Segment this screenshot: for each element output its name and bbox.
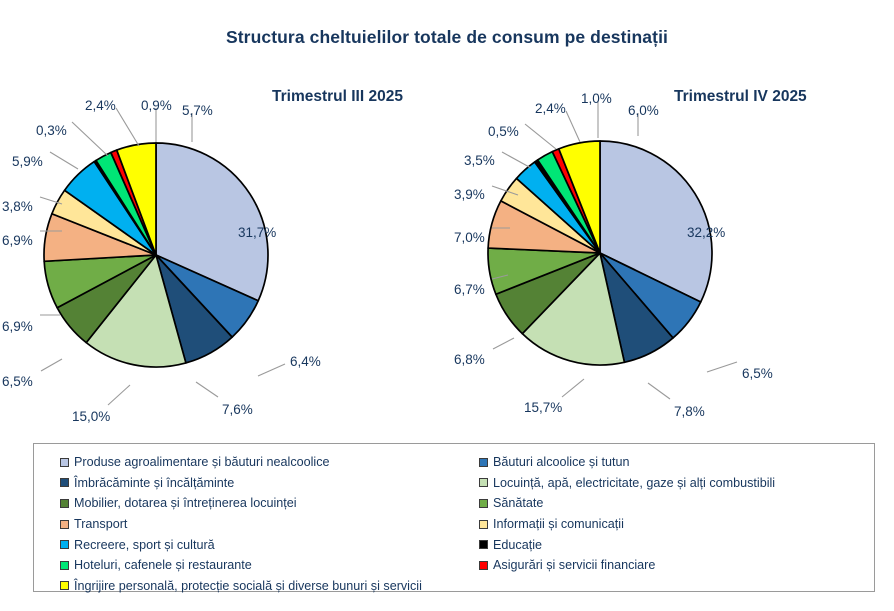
pie-slice-percent-label: 6,9% bbox=[2, 234, 33, 248]
legend-item-label: Îmbrăcăminte și încălțăminte bbox=[74, 476, 234, 490]
legend-item: Hoteluri, cafenele și restaurante bbox=[60, 555, 490, 576]
legend-item: Locuință, apă, electricitate, gaze și al… bbox=[479, 473, 871, 494]
legend-item-label: Produse agroalimentare și băuturi nealco… bbox=[74, 455, 330, 469]
pie-slice-percent-label: 6,5% bbox=[742, 367, 773, 381]
legend-item-label: Recreere, sport și cultură bbox=[74, 538, 215, 552]
pie-slice-percent-label: 6,9% bbox=[2, 320, 33, 334]
legend-color-swatch bbox=[60, 520, 69, 529]
legend-item: Transport bbox=[60, 514, 490, 535]
legend-color-swatch bbox=[60, 458, 69, 467]
pie-slice-percent-label: 0,3% bbox=[36, 124, 67, 138]
legend-item: Sănătate bbox=[479, 493, 871, 514]
pie-svg-q3 bbox=[0, 76, 452, 436]
pie-slice-percent-label: 3,8% bbox=[2, 200, 33, 214]
pie-slice-percent-label: 6,7% bbox=[454, 283, 485, 297]
pie-slice-percent-label: 0,5% bbox=[488, 125, 519, 139]
legend-color-swatch bbox=[60, 499, 69, 508]
legend-item-label: Sănătate bbox=[493, 496, 543, 510]
label-leader-line bbox=[196, 382, 218, 397]
legend-item: Produse agroalimentare și băuturi nealco… bbox=[60, 452, 490, 473]
legend-item-label: Educație bbox=[493, 538, 542, 552]
pie-slice-percent-label: 7,0% bbox=[454, 231, 485, 245]
label-leader-line bbox=[41, 359, 62, 371]
chart-legend: Produse agroalimentare și băuturi nealco… bbox=[33, 443, 875, 592]
pie-slice-percent-label: 2,4% bbox=[535, 102, 566, 116]
legend-item: Asigurări și servicii financiare bbox=[479, 555, 871, 576]
legend-column-right: Băuturi alcoolice și tutunLocuință, apă,… bbox=[479, 452, 871, 576]
pie-slice-percent-label: 6,8% bbox=[454, 353, 485, 367]
legend-item-label: Transport bbox=[74, 517, 127, 531]
pie-slice-percent-label: 3,5% bbox=[464, 154, 495, 168]
legend-color-swatch bbox=[479, 540, 488, 549]
label-leader-line bbox=[108, 385, 130, 405]
legend-color-swatch bbox=[60, 478, 69, 487]
legend-item: Mobilier, dotarea și întreținerea locuin… bbox=[60, 493, 490, 514]
legend-item: Îmbrăcăminte și încălțăminte bbox=[60, 473, 490, 494]
legend-item: Băuturi alcoolice și tutun bbox=[479, 452, 871, 473]
pie-slice-percent-label: 5,7% bbox=[182, 104, 213, 118]
legend-color-swatch bbox=[479, 458, 488, 467]
pie-slice-percent-label: 15,7% bbox=[524, 401, 562, 415]
legend-item: Îngrijire personală, protecție socială ș… bbox=[60, 576, 490, 597]
pie-slice-percent-label: 32,2% bbox=[687, 226, 725, 240]
legend-item: Informații și comunicații bbox=[479, 514, 871, 535]
legend-color-swatch bbox=[479, 520, 488, 529]
label-leader-line bbox=[116, 108, 139, 146]
legend-item-label: Hoteluri, cafenele și restaurante bbox=[74, 558, 252, 572]
pie-chart-panel-q4: Trimestrul IV 2025 32,2%6,5%7,8%15,7%6,8… bbox=[452, 76, 894, 436]
label-leader-line bbox=[566, 111, 580, 142]
legend-item: Educație bbox=[479, 534, 871, 555]
legend-column-left: Produse agroalimentare și băuturi nealco… bbox=[60, 452, 490, 596]
legend-item-label: Mobilier, dotarea și întreținerea locuin… bbox=[74, 496, 297, 510]
legend-item: Recreere, sport și cultură bbox=[60, 534, 490, 555]
label-leader-line bbox=[72, 122, 108, 156]
legend-color-swatch bbox=[479, 478, 488, 487]
legend-item-label: Îngrijire personală, protecție socială ș… bbox=[74, 579, 422, 593]
pie-slice-percent-label: 6,0% bbox=[628, 104, 659, 118]
legend-color-swatch bbox=[60, 561, 69, 570]
legend-item-label: Asigurări și servicii financiare bbox=[493, 558, 655, 572]
pie-slice-percent-label: 6,5% bbox=[2, 375, 33, 389]
label-leader-line bbox=[648, 383, 670, 399]
label-leader-line bbox=[707, 362, 737, 372]
pie-slice-percent-label: 7,8% bbox=[674, 405, 705, 419]
page-title: Structura cheltuielilor totale de consum… bbox=[0, 27, 894, 48]
pie-slice-percent-label: 15,0% bbox=[72, 410, 110, 424]
legend-item-label: Locuință, apă, electricitate, gaze și al… bbox=[493, 476, 775, 490]
pie-slice-percent-label: 7,6% bbox=[222, 403, 253, 417]
pie-chart-panel-q3: Trimestrul III 2025 31,7%6,4%7,6%15,0%6,… bbox=[0, 76, 452, 436]
label-leader-line bbox=[493, 338, 514, 349]
pie-slice-percent-label: 0,9% bbox=[141, 99, 172, 113]
label-leader-line bbox=[50, 152, 78, 169]
label-leader-line bbox=[562, 379, 584, 397]
pie-slice-percent-label: 1,0% bbox=[581, 92, 612, 106]
pie-slice-percent-label: 31,7% bbox=[238, 226, 276, 240]
legend-color-swatch bbox=[60, 540, 69, 549]
pie-slice-percent-label: 5,9% bbox=[12, 155, 43, 169]
label-leader-line bbox=[525, 124, 556, 149]
legend-color-swatch bbox=[60, 581, 69, 590]
label-leader-line bbox=[258, 364, 285, 376]
legend-color-swatch bbox=[479, 499, 488, 508]
legend-item-label: Informații și comunicații bbox=[493, 517, 624, 531]
pie-slice-percent-label: 6,4% bbox=[290, 355, 321, 369]
pie-slice-percent-label: 2,4% bbox=[85, 99, 116, 113]
label-leader-line bbox=[502, 152, 531, 168]
pie-slice-percent-label: 3,9% bbox=[454, 188, 485, 202]
legend-item-label: Băuturi alcoolice și tutun bbox=[493, 455, 630, 469]
legend-color-swatch bbox=[479, 561, 488, 570]
